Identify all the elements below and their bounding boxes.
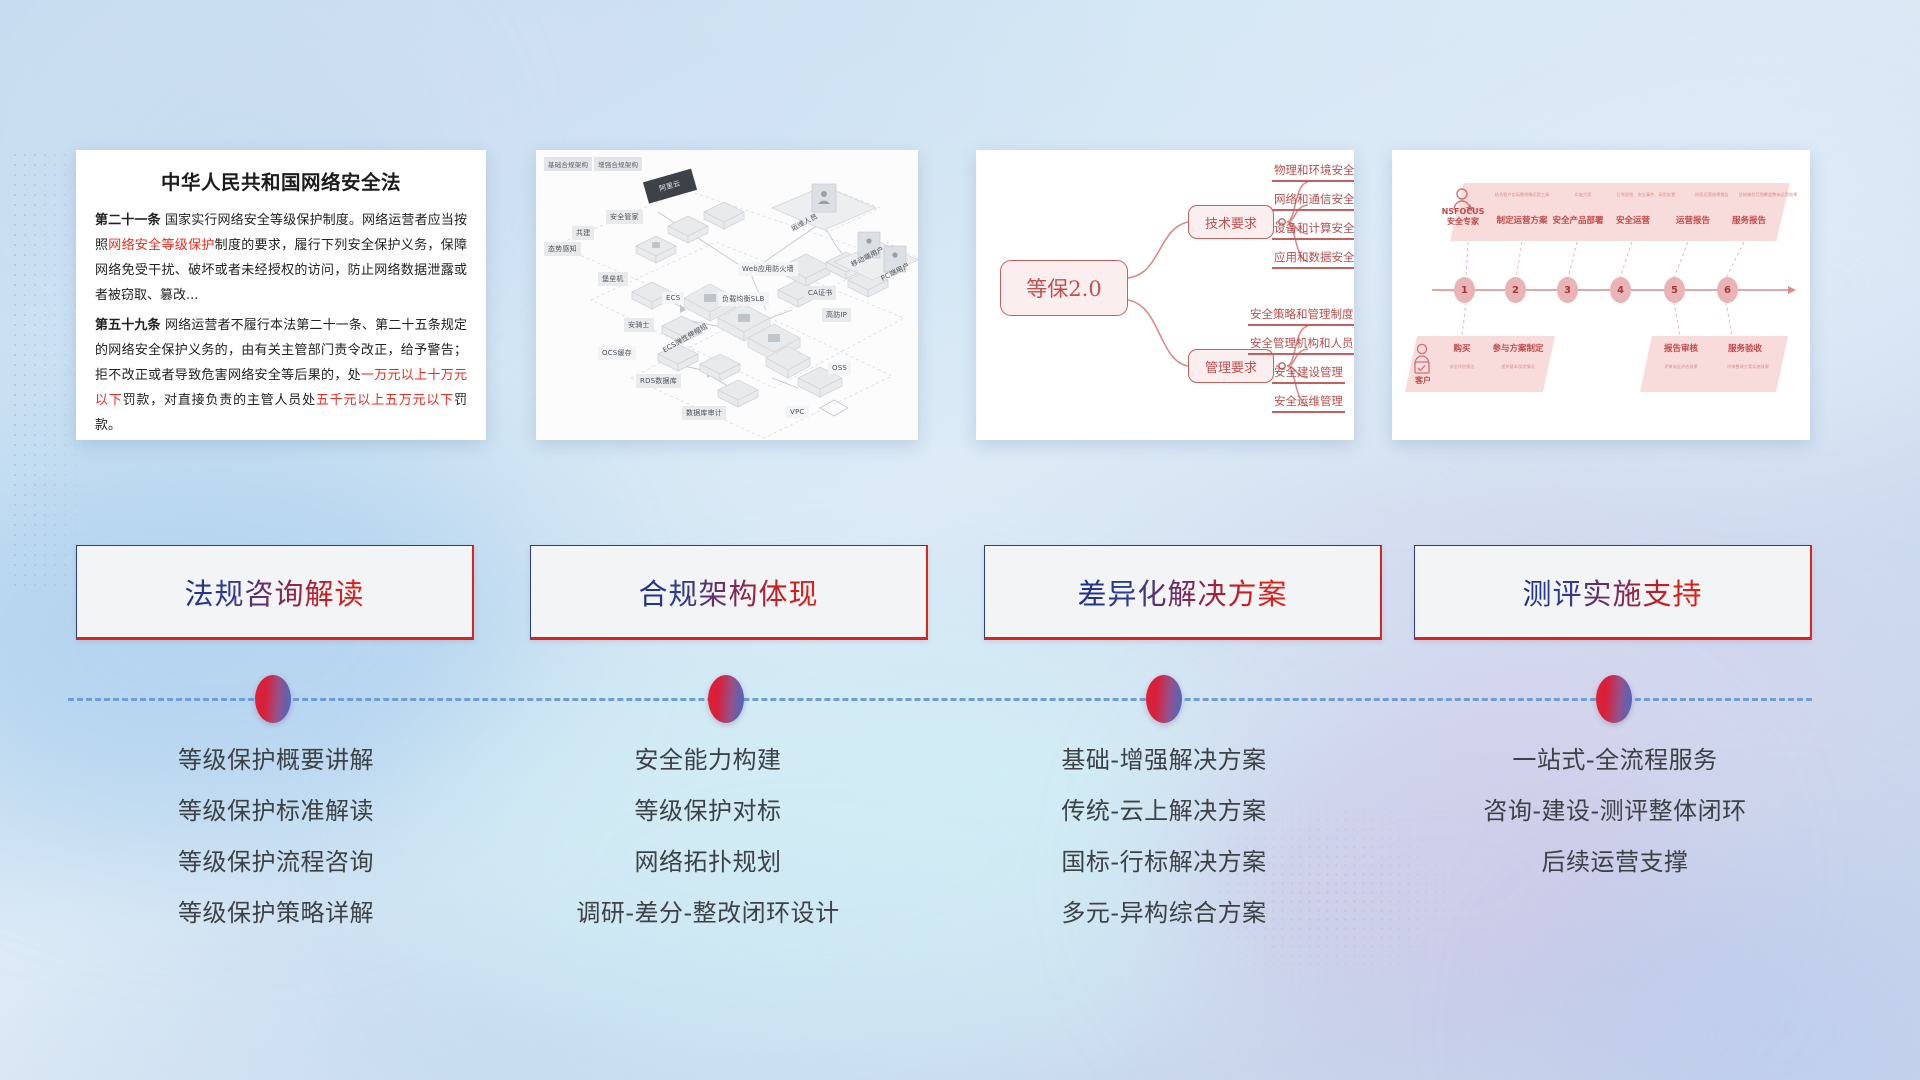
- mindmap-leaf: 安全建设管理: [1272, 364, 1345, 384]
- card-nsfocus-timeline[interactable]: NSFOCUS 安全专家 客户 结合客户实际需明确运营工具 实施方案 日常巡检、…: [1392, 150, 1810, 440]
- law-text-highlight: 五千元以上五万元以下: [316, 393, 454, 408]
- nsfocus-step-label: 运营报告: [1664, 214, 1722, 226]
- titles-row: 法规咨询解读 合规架构体现 差异化解决方案 测评实施支持: [0, 545, 1920, 650]
- title-label: 测评实施支持: [1522, 571, 1702, 613]
- mindmap-leaf: 物理和环境安全: [1272, 162, 1354, 182]
- title-label: 差异化解决方案: [1077, 571, 1287, 613]
- arch-node-slb: 负载均衡SLB: [718, 292, 769, 306]
- nsfocus-step-label: 安全运营: [1604, 214, 1662, 226]
- list-item: 安全能力构建: [488, 735, 928, 786]
- arch-node-rds-database: RDS数据库: [636, 374, 681, 388]
- list-item: 一站式-全流程服务: [1406, 735, 1824, 786]
- title-box-regulation-consulting[interactable]: 法规咨询解读: [76, 545, 474, 640]
- list-item: 等级保护流程咨询: [76, 837, 476, 888]
- list-item: 传统-云上解决方案: [944, 786, 1384, 837]
- arch-tab-enhanced[interactable]: 增强合规架构: [594, 157, 642, 171]
- nsfocus-step-number[interactable]: 4: [1610, 277, 1631, 303]
- list-item: 等级保护策略详解: [76, 888, 476, 939]
- nsfocus-customer-step-label: 参与方案制定: [1482, 342, 1554, 354]
- arch-tab-basic[interactable]: 基础合规架构: [544, 157, 592, 171]
- timeline-dashed-line: [68, 698, 1812, 701]
- title-label: 法规咨询解读: [184, 571, 364, 613]
- law-card-body: 中华人民共和国网络安全法 第二十一条 国家实行网络安全等级保护制度。网络运营者应…: [76, 150, 486, 440]
- arch-node-waf: Web应用防火墙: [738, 262, 798, 276]
- nsfocus-step-number[interactable]: 3: [1557, 277, 1578, 303]
- law-paragraph: 第五十九条 网络运营者不履行本法第二十一条、第二十五条规定的网络安全保护义务的，…: [95, 313, 467, 438]
- nsfocus-brand-name: NSFOCUS: [1442, 207, 1485, 216]
- title-box-assessment-support[interactable]: 测评实施支持: [1414, 545, 1812, 640]
- mindmap-diagram: 等保2.0 技术要求 管理要求 物理和环境安全 网络和通信安全 设备和计算安全 …: [976, 150, 1354, 440]
- nsfocus-customer-step-sub: 评审安全评估效果: [1646, 364, 1716, 370]
- mindmap-root-node[interactable]: 等保2.0: [1000, 260, 1128, 316]
- arch-node-situation-aware: 态势感知: [544, 242, 581, 256]
- nsfocus-process-diagram: NSFOCUS 安全专家 客户 结合客户实际需明确运营工具 实施方案 日常巡检、…: [1392, 150, 1810, 440]
- list-column-regulation: 等级保护概要讲解 等级保护标准解读 等级保护流程咨询 等级保护策略详解: [76, 735, 476, 939]
- list-item: 等级保护标准解读: [76, 786, 476, 837]
- card-cybersecurity-law[interactable]: 中华人民共和国网络安全法 第二十一条 国家实行网络安全等级保护制度。网络运营者应…: [76, 150, 486, 440]
- mindmap-leaf: 安全策略和管理制度: [1248, 306, 1354, 326]
- mindmap-branch-technical[interactable]: 技术要求: [1188, 205, 1274, 239]
- mindmap-leaf: 设备和计算安全: [1272, 220, 1354, 240]
- law-text-highlight: 网络安全等级保护: [108, 238, 214, 253]
- list-item: 国标-行标解决方案: [944, 837, 1384, 888]
- title-box-differentiated-solutions[interactable]: 差异化解决方案: [984, 545, 1382, 640]
- arch-node-anti-ddos-ip: 高防IP: [822, 308, 851, 322]
- mindmap-leaf: 安全管理机构和人员: [1248, 335, 1354, 355]
- timeline-dot[interactable]: [1146, 675, 1182, 723]
- list-column-architecture: 安全能力构建 等级保护对标 网络拓扑规划 调研-差分-整改闭环设计: [488, 735, 928, 939]
- nsfocus-brand-sub: 安全专家: [1447, 217, 1479, 226]
- list-item: 基础-增强解决方案: [944, 735, 1384, 786]
- timeline-dot[interactable]: [255, 675, 291, 723]
- mindmap-leaf: 安全运维管理: [1272, 393, 1345, 413]
- arch-node-oss: OSS: [828, 362, 851, 374]
- cards-row: 中华人民共和国网络安全法 第二十一条 国家实行网络安全等级保护制度。网络运营者应…: [0, 150, 1920, 440]
- card-mindmap-dengbao[interactable]: 等保2.0 技术要求 管理要求 物理和环境安全 网络和通信安全 设备和计算安全 …: [976, 150, 1354, 440]
- list-item: 后续运营支撑: [1406, 837, 1824, 888]
- nsfocus-step-sub: 日常巡检、安全事件、高危处置: [1604, 192, 1688, 198]
- nsfocus-step-number[interactable]: 6: [1717, 277, 1738, 303]
- law-text-segment: 罚款，对直接负责的主管人员处: [123, 393, 316, 408]
- nsfocus-step-sub: 总结服务范围覆盖整体运营效果: [1728, 192, 1808, 198]
- law-article-number: 第二十一条: [95, 213, 161, 228]
- law-paragraph: 第二十一条 国家实行网络安全等级保护制度。网络运营者应当按照网络安全等级保护制度…: [95, 208, 467, 308]
- arch-node-ocs-cache: OCS缓存: [598, 346, 636, 360]
- mindmap-leaf: 应用和数据安全: [1272, 249, 1354, 269]
- list-item: 等级保护对标: [488, 786, 928, 837]
- list-item: 咨询-建设-测评整体闭环: [1406, 786, 1824, 837]
- nsfocus-brand-label: NSFOCUS 安全专家: [1434, 207, 1492, 227]
- nsfocus-step-number[interactable]: 5: [1664, 277, 1685, 303]
- timeline-dot[interactable]: [1596, 675, 1632, 723]
- nsfocus-step-sub: 结合客户实际需明确运营工具: [1484, 192, 1560, 198]
- nsfocus-step-label: 服务报告: [1720, 214, 1778, 226]
- mindmap-leaf: 网络和通信安全: [1272, 191, 1354, 211]
- arch-node-ca-cert: CA证书: [804, 286, 836, 300]
- nsfocus-customer-step-label: 服务验收: [1714, 342, 1776, 354]
- nsfocus-customer-step-sub: 评审整改方案实施效果: [1710, 364, 1786, 370]
- law-article-number: 第五十九条: [95, 318, 161, 333]
- arch-node-anqishi: 安骑士: [624, 318, 654, 332]
- title-label: 合规架构体现: [638, 571, 818, 613]
- nsfocus-step-label: 安全产品部署: [1544, 214, 1612, 226]
- list-item: 多元-异构综合方案: [944, 888, 1384, 939]
- nsfocus-customer-step-label: 购买: [1442, 342, 1482, 354]
- nsfocus-customer-step-label: 报告审核: [1650, 342, 1712, 354]
- nsfocus-customer-label: 客户: [1406, 376, 1440, 386]
- arch-node-vpc: VPC: [786, 406, 809, 418]
- nsfocus-customer-step-sub: 安全评估报告: [1438, 364, 1486, 370]
- nsfocus-step-number[interactable]: 2: [1505, 277, 1526, 303]
- nsfocus-customer-step-sub: 提供基本现状情况: [1488, 364, 1548, 370]
- arch-node-bastion-host: 堡垒机: [598, 272, 628, 286]
- list-item: 调研-差分-整改闭环设计: [488, 888, 928, 939]
- arch-node-ecs: ECS: [662, 292, 684, 304]
- arch-node-security-butler: 安全管家: [606, 210, 643, 224]
- list-item: 网络拓扑规划: [488, 837, 928, 888]
- law-title: 中华人民共和国网络安全法: [95, 166, 467, 195]
- list-column-solutions: 基础-增强解决方案 传统-云上解决方案 国标-行标解决方案 多元-异构综合方案: [944, 735, 1384, 939]
- nsfocus-step-number[interactable]: 1: [1454, 277, 1475, 303]
- list-item: 等级保护概要讲解: [76, 735, 476, 786]
- title-box-compliance-architecture[interactable]: 合规架构体现: [530, 545, 928, 640]
- arch-node-db-audit: 数据库审计: [682, 406, 726, 420]
- list-column-assessment: 一站式-全流程服务 咨询-建设-测评整体闭环 后续运营支撑: [1406, 735, 1824, 888]
- architecture-diagram: 基础合规架构 增强合规架构 阿里云 安全管家 共建 态势感知 堡垒机 安骑士 O…: [536, 150, 918, 440]
- timeline-dot[interactable]: [708, 675, 744, 723]
- card-cloud-architecture[interactable]: 基础合规架构 增强合规架构 阿里云 安全管家 共建 态势感知 堡垒机 安骑士 O…: [536, 150, 918, 440]
- arch-node-cobuild: 共建: [572, 226, 594, 240]
- lists-row: 等级保护概要讲解 等级保护标准解读 等级保护流程咨询 等级保护策略详解 安全能力…: [0, 735, 1920, 965]
- timeline-track: [0, 660, 1920, 740]
